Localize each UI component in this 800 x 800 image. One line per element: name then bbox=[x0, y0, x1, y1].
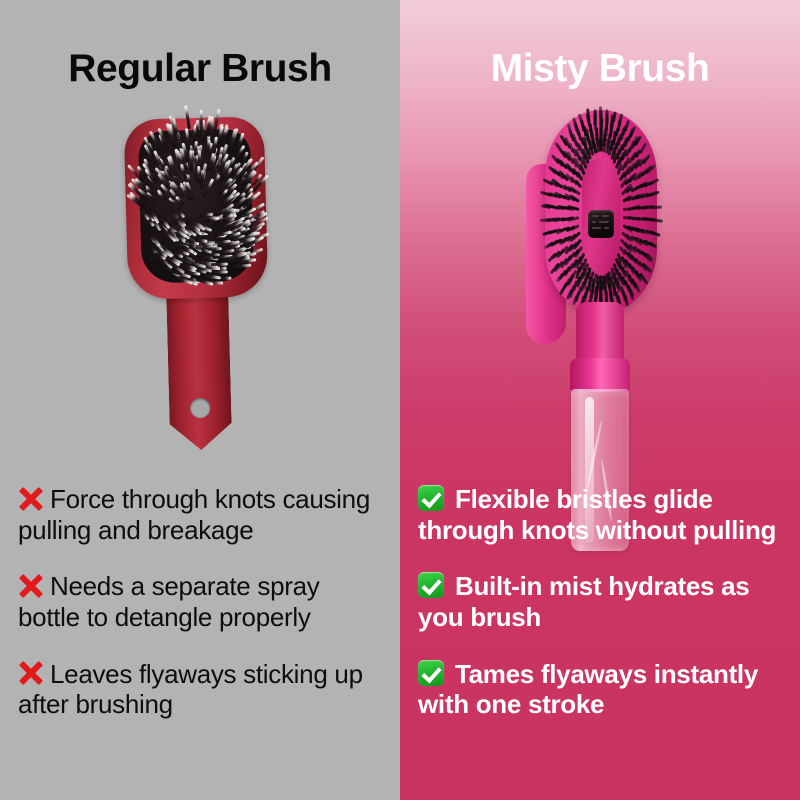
regular-brush-product-image bbox=[0, 110, 400, 470]
misty-brush-panel: Misty Brush bbox=[400, 0, 800, 800]
feature-item: Force through knots causing pulling and … bbox=[18, 484, 384, 545]
x-mark-icon bbox=[18, 486, 43, 511]
feature-text: Needs a separate spray bottle to detangl… bbox=[18, 571, 319, 632]
misty-brush-title: Misty Brush bbox=[400, 48, 800, 91]
misty-brush-product-image bbox=[400, 110, 800, 470]
regular-brush-feature-list: Force through knots causing pulling and … bbox=[0, 484, 400, 746]
regular-brush-panel: Regular Brush Force through knots causin… bbox=[0, 0, 400, 800]
green-check-icon bbox=[418, 572, 444, 598]
mist-nozzle-icon bbox=[588, 210, 614, 238]
feature-item: Leaves flyaways sticking up after brushi… bbox=[18, 659, 384, 720]
misty-brush-bottle-collar bbox=[570, 358, 630, 392]
x-mark-icon bbox=[18, 661, 43, 686]
paddle-brush-illustration bbox=[95, 107, 304, 462]
feature-text: Leaves flyaways sticking up after brushi… bbox=[18, 659, 363, 720]
feature-text: Tames flyaways instantly with one stroke bbox=[418, 659, 758, 720]
brush-comparison-infographic: Regular Brush Force through knots causin… bbox=[0, 0, 800, 800]
paddle-brush-bristles bbox=[95, 107, 295, 112]
feature-item: Built-in mist hydrates as you brush bbox=[418, 571, 784, 632]
feature-item: Needs a separate spray bottle to detangl… bbox=[18, 571, 384, 632]
feature-text: Built-in mist hydrates as you brush bbox=[418, 571, 749, 632]
feature-item: Tames flyaways instantly with one stroke bbox=[418, 659, 784, 720]
green-check-icon bbox=[418, 660, 444, 686]
regular-brush-title: Regular Brush bbox=[0, 48, 400, 91]
green-check-icon bbox=[418, 485, 444, 511]
misty-brush-feature-list: Flexible bristles glide through knots wi… bbox=[400, 484, 800, 746]
x-mark-icon bbox=[18, 573, 43, 598]
feature-text: Force through knots causing pulling and … bbox=[18, 484, 370, 545]
feature-text: Flexible bristles glide through knots wi… bbox=[418, 484, 776, 545]
feature-item: Flexible bristles glide through knots wi… bbox=[418, 484, 784, 545]
misty-brush-illustration bbox=[500, 106, 700, 466]
